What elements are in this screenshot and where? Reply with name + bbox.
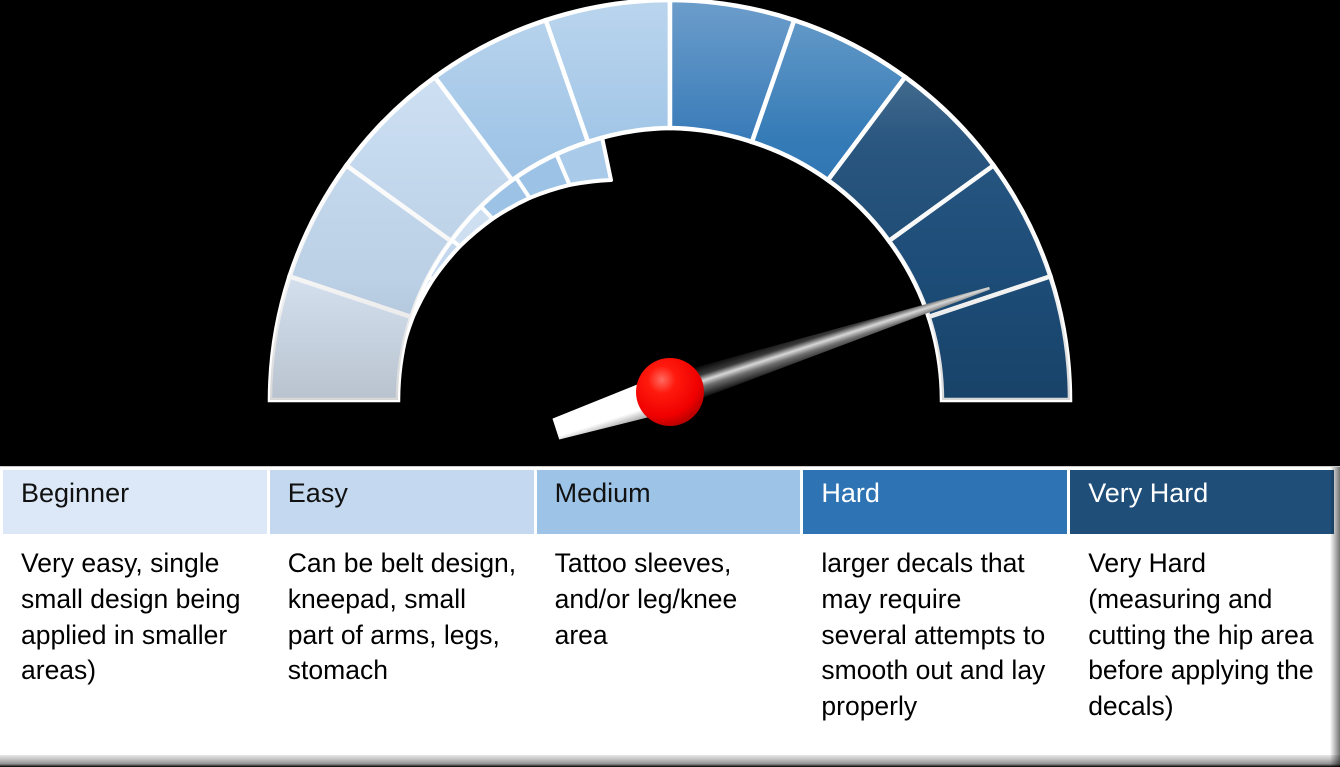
table-header-hard: Hard [803, 470, 1070, 534]
table-cell-medium: Tattoo sleeves, and/or leg/knee area [537, 534, 804, 764]
gauge-band-ring [270, 0, 1070, 400]
table-header-medium: Medium [537, 470, 804, 534]
table-cell-hard: larger decals that may require several a… [803, 534, 1070, 764]
table-header-very-hard: Very Hard [1070, 470, 1337, 534]
table-header-label: Very Hard [1088, 478, 1208, 509]
difficulty-legend-table: Beginner Easy Medium Hard Very Hard Very… [0, 467, 1340, 767]
table-header-easy: Easy [270, 470, 537, 534]
gauge-ring-shading [270, 0, 1070, 400]
table-header-label: Easy [288, 478, 348, 509]
table-right-shadow [1330, 467, 1340, 767]
gauge-needle-hub [636, 358, 704, 426]
table-cell-beginner: Very easy, single small design being app… [3, 534, 270, 764]
table-cell-easy: Can be belt design, kneepad, small part … [270, 534, 537, 764]
gauge-difficulty-slide: Beginner Easy Medium Hard Very Hard Very… [0, 0, 1340, 767]
table-bottom-shadow [0, 755, 1340, 767]
table-header-label: Hard [821, 478, 880, 509]
table-cell-very-hard: Very Hard (measuring and cutting the hip… [1070, 534, 1337, 764]
table-header-label: Medium [555, 478, 651, 509]
gauge-svg [0, 0, 1340, 470]
table-header-label: Beginner [21, 478, 129, 509]
table-header-beginner: Beginner [3, 470, 270, 534]
gauge-chart [0, 0, 1340, 470]
